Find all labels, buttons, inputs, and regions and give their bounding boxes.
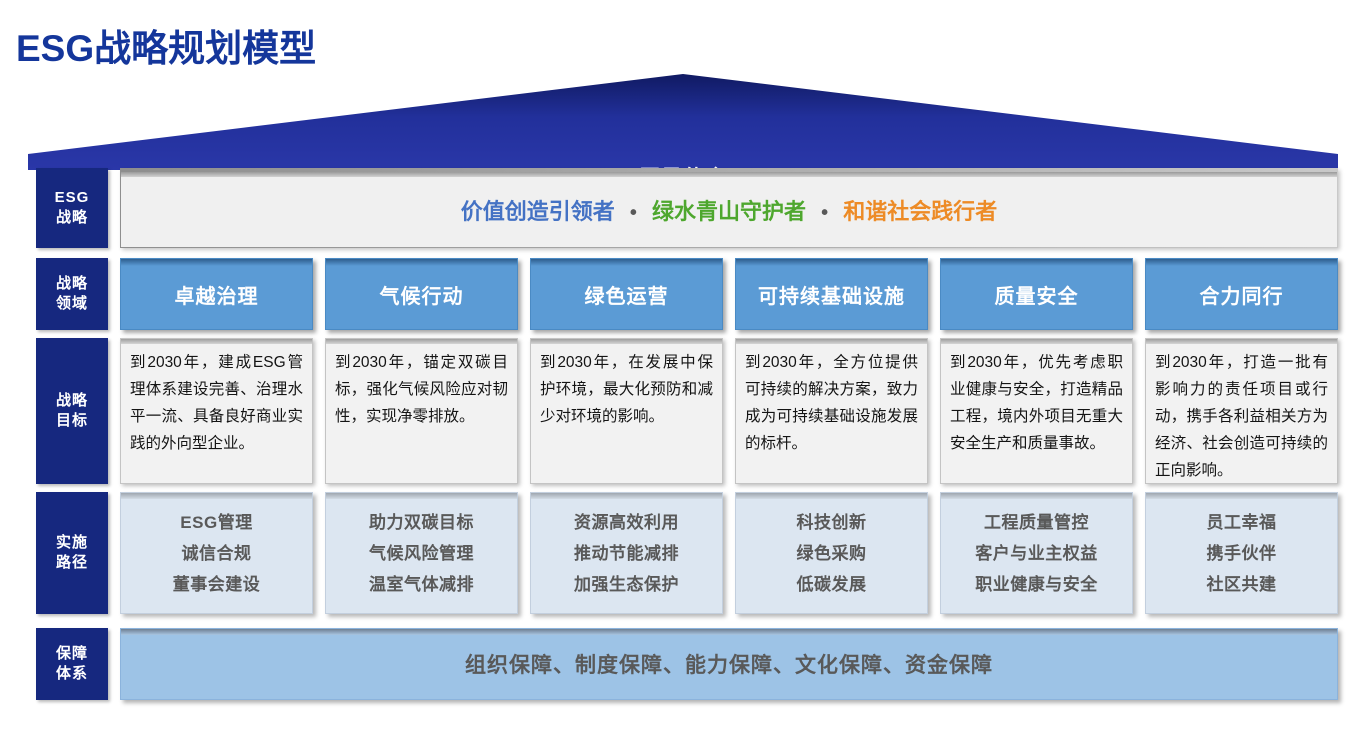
path-item: 加强生态保护 (574, 569, 679, 600)
row-label-line1: 战略 (56, 274, 88, 294)
esg-strategy-body: 价值创造引领者 • 绿水青山守护者 • 和谐社会践行者 (120, 168, 1338, 248)
esg-segment-value-creation: 价值创造引领者 (461, 199, 615, 224)
path-item: 社区共建 (1207, 569, 1277, 600)
path-card-sustainable-infrastructure[interactable]: 科技创新 绿色采购 低碳发展 (735, 492, 928, 614)
path-item: 助力双碳目标 (369, 507, 474, 538)
row-label-line1: 保障 (56, 644, 88, 664)
implementation-path-row: 实施 路径 ESG管理 诚信合规 董事会建设 助力双碳目标 气候风险管理 温室气… (0, 492, 1365, 614)
guarantee-system-body: 组织保障、制度保障、能力保障、文化保障、资金保障 (120, 628, 1338, 700)
path-card-green-operation[interactable]: 资源高效利用 推动节能减排 加强生态保护 (530, 492, 723, 614)
row-label-line2: 体系 (56, 664, 88, 684)
path-item: ESG管理 (180, 507, 252, 538)
path-item: 温室气体减排 (369, 569, 474, 600)
strategy-domain-cards: 卓越治理 气候行动 绿色运营 可持续基础设施 质量安全 合力同行 (120, 258, 1338, 330)
path-item: 绿色采购 (797, 538, 867, 569)
path-item: 董事会建设 (173, 569, 261, 600)
path-item: 气候风险管理 (369, 538, 474, 569)
row-label-line1: 战略 (56, 391, 88, 411)
guarantee-system-band[interactable]: 组织保障、制度保障、能力保障、文化保障、资金保障 (120, 628, 1338, 700)
goal-card-partnership[interactable]: 到2030年，打造一批有影响力的责任项目或行动，携手各利益相关方为经济、社会创造… (1145, 338, 1338, 484)
goal-card-climate-action[interactable]: 到2030年，锚定双碳目标，强化气候风险应对韧性，实现净零排放。 (325, 338, 518, 484)
page-title: ESG战略规划模型 (16, 18, 316, 72)
esg-segment-harmonious-society: 和谐社会践行者 (843, 199, 997, 224)
esg-segment-green-guardian: 绿水青山守护者 (652, 199, 806, 224)
goal-card-governance[interactable]: 到2030年，建成ESG管理体系建设完善、治理水平一流、具备良好商业实践的外向型… (120, 338, 313, 484)
path-item: 职业健康与安全 (975, 569, 1098, 600)
esg-strategy-band[interactable]: 价值创造引领者 • 绿水青山守护者 • 和谐社会践行者 (120, 168, 1338, 248)
path-item: 低碳发展 (797, 569, 867, 600)
row-label-esg-strategy: ESG 战略 (36, 168, 108, 248)
goal-card-sustainable-infrastructure[interactable]: 到2030年，全方位提供可持续的解决方案，致力成为可持续基础设施发展的标杆。 (735, 338, 928, 484)
path-card-climate-action[interactable]: 助力双碳目标 气候风险管理 温室气体减排 (325, 492, 518, 614)
guarantee-system-row: 保障 体系 组织保障、制度保障、能力保障、文化保障、资金保障 (0, 628, 1365, 700)
row-label-line2: 目标 (56, 411, 88, 431)
path-item: 客户与业主权益 (975, 538, 1098, 569)
row-label-implementation-path: 实施 路径 (36, 492, 108, 614)
strategy-domain-body: 卓越治理 气候行动 绿色运营 可持续基础设施 质量安全 合力同行 (120, 258, 1338, 330)
strategy-goal-row: 战略 目标 到2030年，建成ESG管理体系建设完善、治理水平一流、具备良好商业… (0, 338, 1365, 484)
esg-strategy-model-slide: ESG战略规划模型 愿景使命 筑梦丝路·共建美好世界 ESG 战略 (0, 0, 1365, 736)
domain-card-partnership[interactable]: 合力同行 (1145, 258, 1338, 330)
roof-shape (28, 74, 1338, 170)
esg-strategy-statement: 价值创造引领者 • 绿水青山守护者 • 和谐社会践行者 (461, 194, 998, 226)
domain-card-climate-action[interactable]: 气候行动 (325, 258, 518, 330)
path-item: 科技创新 (797, 507, 867, 538)
row-label-strategy-goal: 战略 目标 (36, 338, 108, 484)
path-item: 推动节能减排 (574, 538, 679, 569)
esg-separator-1: • (621, 202, 646, 224)
strategy-domain-row: 战略 领域 卓越治理 气候行动 绿色运营 可持续基础设施 质量安全 合力同行 (0, 258, 1365, 330)
path-item: 资源高效利用 (574, 507, 679, 538)
goal-card-quality-safety[interactable]: 到2030年，优先考虑职业健康与安全，打造精品工程，境内外项目无重大安全生产和质… (940, 338, 1133, 484)
path-item: 携手伙伴 (1207, 538, 1277, 569)
implementation-path-cards: ESG管理 诚信合规 董事会建设 助力双碳目标 气候风险管理 温室气体减排 资源… (120, 492, 1338, 614)
row-label-line1: ESG (55, 188, 90, 208)
path-item: 工程质量管控 (984, 507, 1089, 538)
esg-strategy-row: ESG 战略 价值创造引领者 • 绿水青山守护者 • 和谐社会践行者 (0, 168, 1365, 248)
implementation-path-body: ESG管理 诚信合规 董事会建设 助力双碳目标 气候风险管理 温室气体减排 资源… (120, 492, 1338, 614)
path-card-governance[interactable]: ESG管理 诚信合规 董事会建设 (120, 492, 313, 614)
path-card-quality-safety[interactable]: 工程质量管控 客户与业主权益 职业健康与安全 (940, 492, 1133, 614)
row-label-line1: 实施 (56, 533, 88, 553)
goal-card-green-operation[interactable]: 到2030年，在发展中保护环境，最大化预防和减少对环境的影响。 (530, 338, 723, 484)
path-card-partnership[interactable]: 员工幸福 携手伙伴 社区共建 (1145, 492, 1338, 614)
strategy-goal-cards: 到2030年，建成ESG管理体系建设完善、治理水平一流、具备良好商业实践的外向型… (120, 338, 1338, 484)
domain-card-quality-safety[interactable]: 质量安全 (940, 258, 1133, 330)
domain-card-sustainable-infrastructure[interactable]: 可持续基础设施 (735, 258, 928, 330)
row-label-line2: 路径 (56, 553, 88, 573)
domain-card-green-operation[interactable]: 绿色运营 (530, 258, 723, 330)
path-item: 员工幸福 (1207, 507, 1277, 538)
domain-card-governance[interactable]: 卓越治理 (120, 258, 313, 330)
row-label-line2: 领域 (56, 294, 88, 314)
row-label-guarantee-system: 保障 体系 (36, 628, 108, 700)
path-item: 诚信合规 (182, 538, 252, 569)
row-label-strategy-domain: 战略 领域 (36, 258, 108, 330)
row-label-line2: 战略 (56, 208, 88, 228)
vision-roof: 愿景使命 筑梦丝路·共建美好世界 (28, 74, 1338, 170)
esg-separator-2: • (812, 202, 837, 224)
strategy-goal-body: 到2030年，建成ESG管理体系建设完善、治理水平一流、具备良好商业实践的外向型… (120, 338, 1338, 484)
